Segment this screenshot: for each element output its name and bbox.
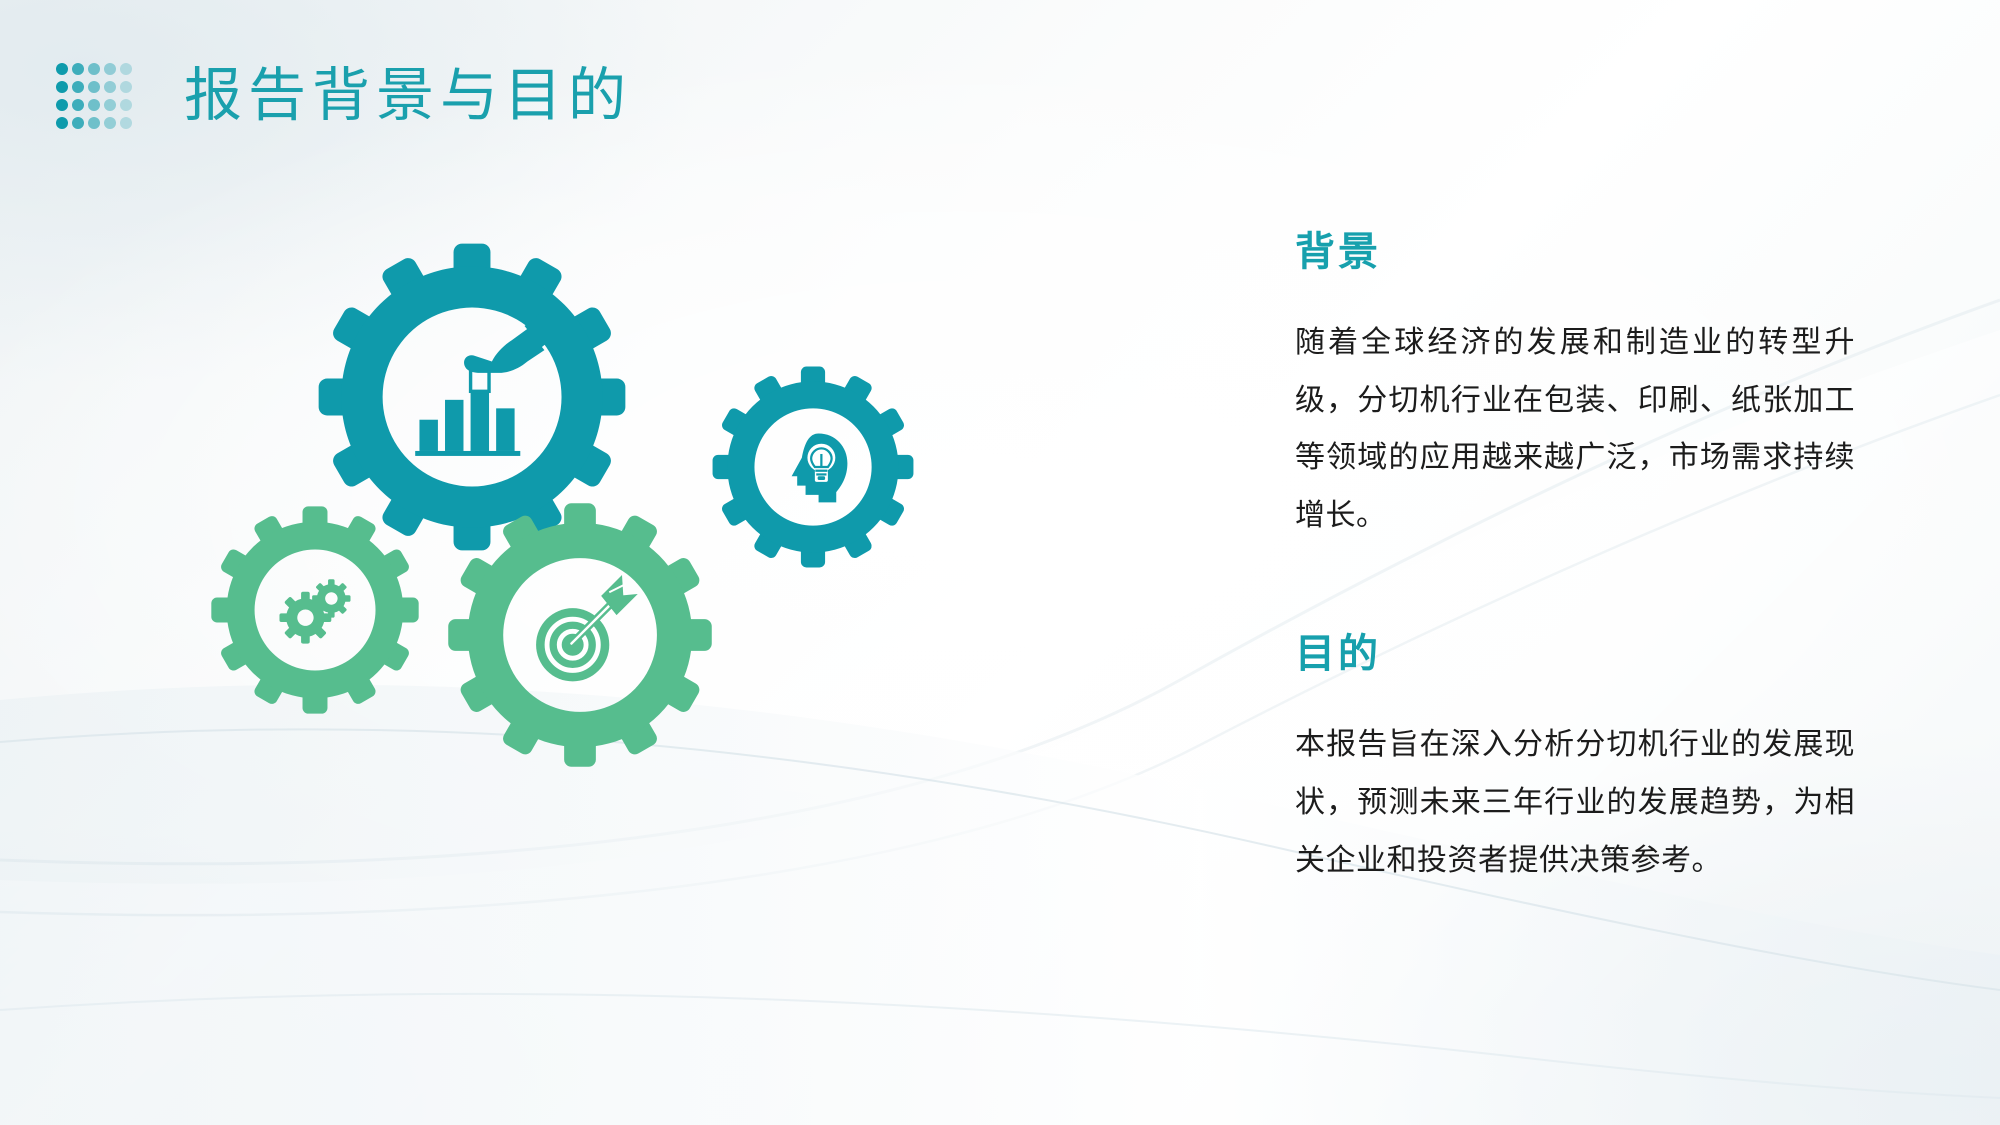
section-body-background: 随着全球经济的发展和制造业的转型升级，分切机行业在包装、印刷、纸张加工等领域的应… — [1295, 314, 1855, 544]
decor-dot — [72, 99, 84, 111]
decor-dot — [88, 99, 100, 111]
gear-cluster-illustration — [150, 215, 1010, 865]
decor-dot — [104, 81, 116, 93]
decor-dot — [56, 81, 68, 93]
section-body-purpose: 本报告旨在深入分析分切机行业的发展现状，预测未来三年行业的发展趋势，为相关企业和… — [1295, 716, 1855, 889]
gear-process — [211, 506, 418, 713]
section-purpose: 目的 本报告旨在深入分析分切机行业的发展现状，预测未来三年行业的发展趋势，为相关… — [1295, 630, 1855, 889]
decor-dot — [104, 63, 116, 75]
slide-header: 报告背景与目的 — [56, 28, 632, 164]
decor-dot — [72, 63, 84, 75]
decor-dot — [72, 81, 84, 93]
decor-dot — [72, 117, 84, 129]
decor-dot — [88, 81, 100, 93]
decor-dot — [104, 99, 116, 111]
decor-dot — [120, 99, 132, 111]
decor-dot — [120, 63, 132, 75]
decor-dot — [56, 63, 68, 75]
slide-root: 报告背景与目的 — [0, 0, 2000, 1125]
decor-dot — [88, 63, 100, 75]
gear-idea — [713, 367, 914, 568]
dot-matrix-decoration — [56, 63, 136, 135]
decor-dot — [56, 117, 68, 129]
head-lightbulb-icon — [792, 434, 848, 503]
decor-dot — [120, 117, 132, 129]
decor-dot — [104, 117, 116, 129]
target-arrow-icon — [536, 576, 636, 681]
hand-bar-chart-icon — [415, 315, 556, 456]
section-background: 背景 随着全球经济的发展和制造业的转型升级，分切机行业在包装、印刷、纸张加工等领… — [1295, 228, 1855, 544]
decor-dot — [88, 117, 100, 129]
decor-dot — [56, 99, 68, 111]
section-heading-background: 背景 — [1295, 228, 1855, 276]
section-heading-purpose: 目的 — [1295, 630, 1855, 678]
page-title: 报告背景与目的 — [184, 67, 632, 125]
decor-dot — [120, 81, 132, 93]
content-column: 背景 随着全球经济的发展和制造业的转型升级，分切机行业在包装、印刷、纸张加工等领… — [1295, 228, 1855, 889]
cogwheels-icon — [279, 579, 350, 643]
